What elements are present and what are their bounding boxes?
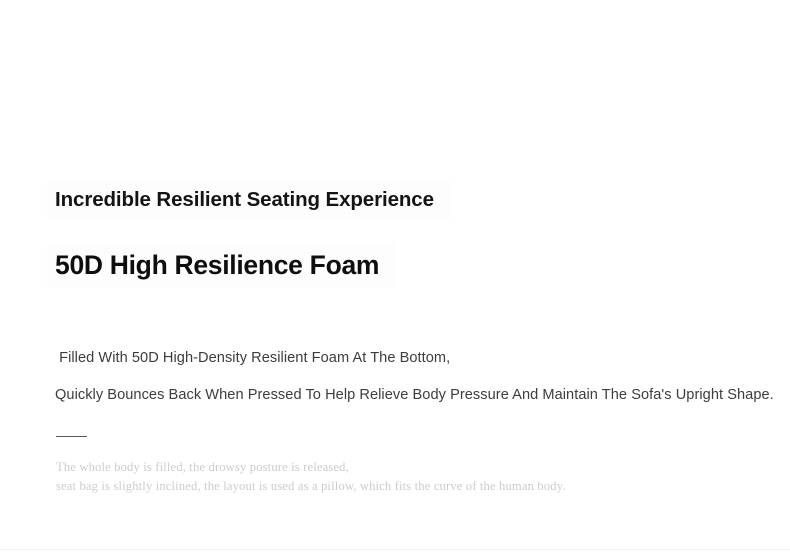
caption-line-2: seat bag is slightly inclined, the layou… <box>56 480 566 493</box>
caption-line-1: The whole body is filled, the drowsy pos… <box>56 461 349 474</box>
title-heading-block: 50D High Resilience Foam <box>47 243 395 288</box>
bottom-hairline <box>0 549 790 550</box>
section-divider <box>56 436 87 437</box>
eyebrow-heading-block: Incredible Resilient Seating Experience <box>47 180 450 220</box>
product-feature-page: Incredible Resilient Seating Experience … <box>0 0 790 558</box>
body-paragraph-line-1: Filled With 50D High-Density Resilient F… <box>55 351 450 366</box>
page-title: 50D High Resilience Foam <box>47 252 379 279</box>
body-paragraph-line-2: Quickly Bounces Back When Pressed To Hel… <box>55 388 774 403</box>
eyebrow-heading: Incredible Resilient Seating Experience <box>47 190 434 211</box>
